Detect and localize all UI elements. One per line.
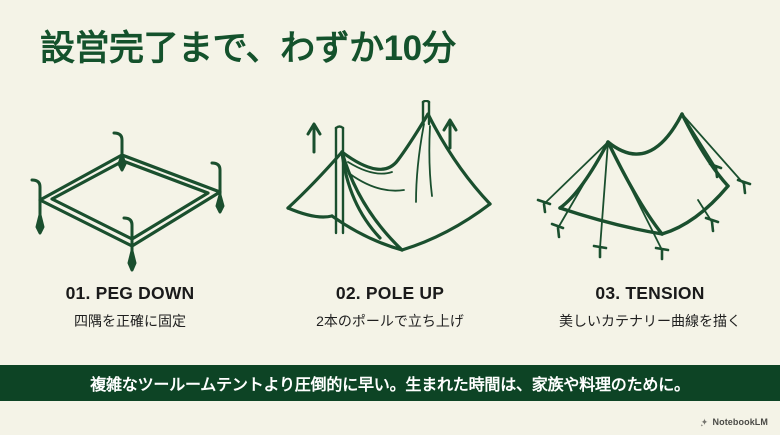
banner-text: 複雑なツールームテントより圧倒的に早い。生まれた時間は、家族や料理のために。: [90, 371, 690, 395]
watermark: NotebookLM: [700, 417, 769, 427]
tarp-poles-raised-icon: [270, 100, 510, 275]
notebooklm-spark-icon: [700, 418, 709, 427]
watermark-label: NotebookLM: [713, 417, 769, 427]
step-description-1: 四隅を正確に固定: [74, 311, 186, 331]
page-title: 設営完了まで、わずか10分: [40, 28, 456, 70]
steps-row: 01. PEG DOWN 四隅を正確に固定: [0, 100, 780, 345]
bottom-banner: 複雑なツールームテントより圧倒的に早い。生まれた時間は、家族や料理のために。: [0, 365, 780, 401]
tarp-tensioned-icon: [530, 100, 770, 275]
step-card-3: 03. TENSION 美しいカテナリー曲線を描く: [524, 100, 776, 345]
tarp-pegged-flat-icon: [10, 100, 250, 275]
step-description-3: 美しいカテナリー曲線を描く: [559, 311, 741, 331]
step-label-2: 02. POLE UP: [336, 283, 444, 304]
step-label-1: 01. PEG DOWN: [66, 283, 195, 304]
step-card-2: 02. POLE UP 2本のポールで立ち上げ: [264, 100, 516, 345]
step-card-1: 01. PEG DOWN 四隅を正確に固定: [4, 100, 256, 345]
slide-root: 設営完了まで、わずか10分: [0, 0, 780, 435]
step-label-3: 03. TENSION: [595, 283, 704, 304]
step-description-2: 2本のポールで立ち上げ: [316, 311, 464, 331]
